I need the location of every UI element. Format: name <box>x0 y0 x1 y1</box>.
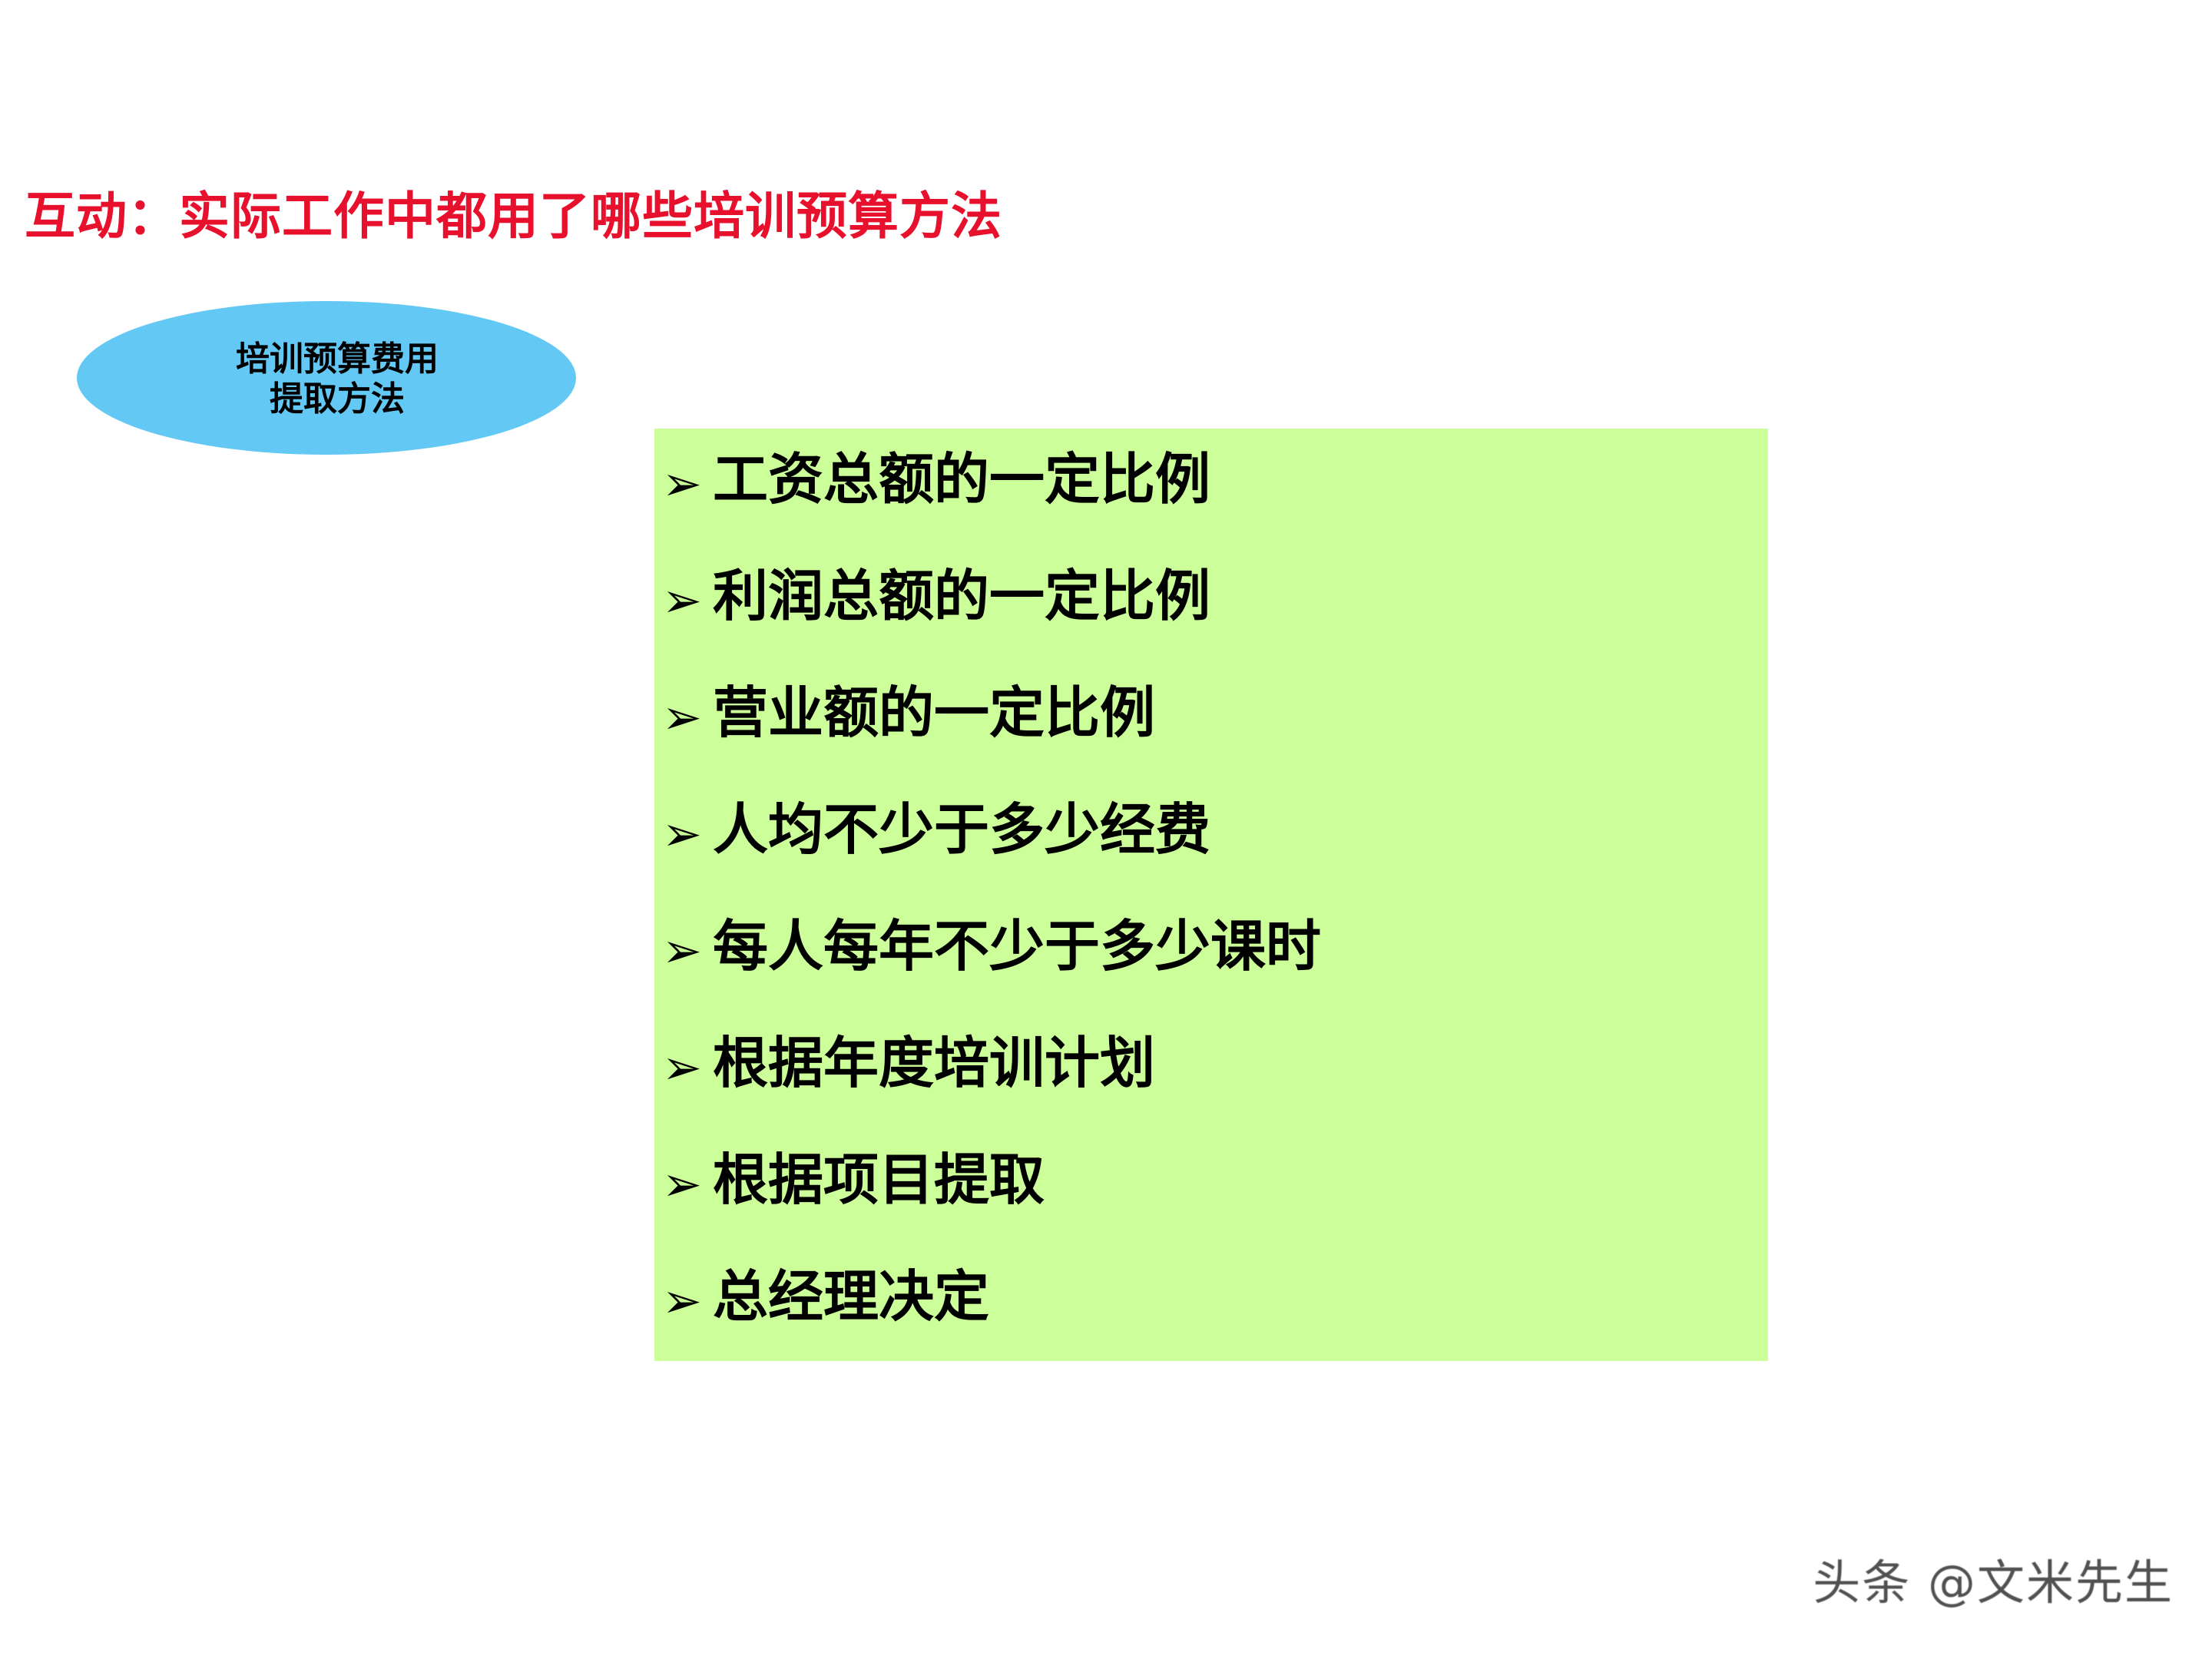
list-item: ➢ 人均不少于多少经费 <box>662 788 1768 905</box>
arrow-bullet-icon: ➢ <box>662 793 713 876</box>
arrow-bullet-icon: ➢ <box>662 676 713 759</box>
arrow-bullet-icon: ➢ <box>662 1260 713 1343</box>
list-item: ➢ 利润总额的一定比例 <box>662 555 1768 671</box>
list-item-label: 根据项目提取 <box>713 1138 1045 1221</box>
arrow-bullet-icon: ➢ <box>662 559 713 642</box>
list-item: ➢ 工资总额的一定比例 <box>662 438 1768 555</box>
watermark: 头条 @文米先生 <box>1813 1550 2174 1616</box>
list-item: ➢ 每人每年不少于多少课时 <box>662 905 1768 1022</box>
ellipse-callout-line-2: 提取方法 <box>236 379 439 419</box>
content-panel: ➢ 工资总额的一定比例 ➢ 利润总额的一定比例 ➢ 营业额的一定比例 ➢ 人均不… <box>654 429 1768 1361</box>
list-item-label: 营业额的一定比例 <box>713 671 1155 754</box>
arrow-bullet-icon: ➢ <box>662 1026 713 1109</box>
page-title: 互动：实际工作中都用了哪些培训预算方法 <box>25 186 1002 247</box>
list-item-label: 人均不少于多少经费 <box>713 788 1210 871</box>
ellipse-callout-text: 培训预算费用 提取方法 <box>236 339 439 419</box>
list-item-label: 利润总额的一定比例 <box>713 555 1210 637</box>
ellipse-callout: 培训预算费用 提取方法 <box>77 301 576 455</box>
list-item-label: 总经理决定 <box>713 1255 989 1338</box>
list-item-label: 根据年度培训计划 <box>713 1022 1155 1104</box>
arrow-bullet-icon: ➢ <box>662 1143 713 1226</box>
arrow-bullet-icon: ➢ <box>662 442 713 525</box>
arrow-bullet-icon: ➢ <box>662 909 713 992</box>
ellipse-callout-line-1: 培训预算费用 <box>236 339 439 379</box>
list-item-label: 工资总额的一定比例 <box>713 438 1210 521</box>
list-item-label: 每人每年不少于多少课时 <box>713 905 1321 988</box>
list-item: ➢ 总经理决定 <box>662 1255 1768 1372</box>
list-item: ➢ 营业额的一定比例 <box>662 671 1768 788</box>
budget-method-list: ➢ 工资总额的一定比例 ➢ 利润总额的一定比例 ➢ 营业额的一定比例 ➢ 人均不… <box>662 438 1768 1372</box>
list-item: ➢ 根据年度培训计划 <box>662 1022 1768 1138</box>
presentation-slide: 互动：实际工作中都用了哪些培训预算方法 培训预算费用 提取方法 ➢ 工资总额的一… <box>0 0 2212 1659</box>
list-item: ➢ 根据项目提取 <box>662 1138 1768 1255</box>
